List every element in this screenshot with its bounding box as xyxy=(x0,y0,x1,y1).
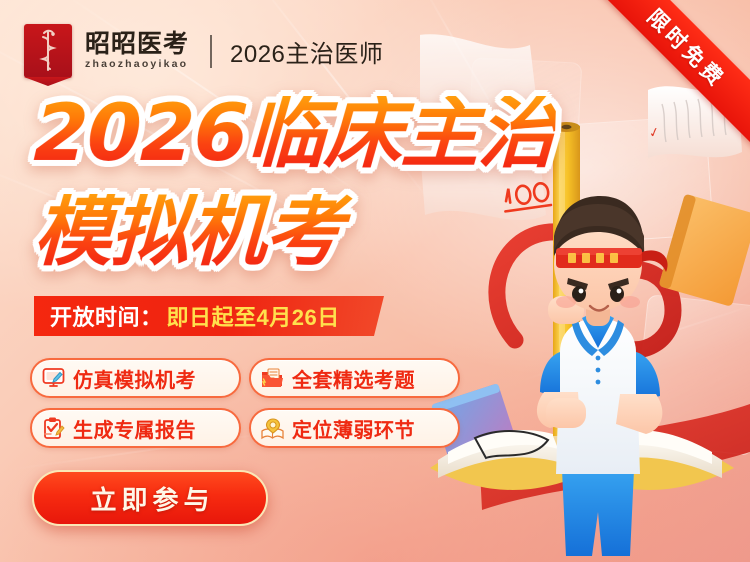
logo-name-pinyin: zhaozhaoyikao xyxy=(85,59,189,70)
open-time-bar: 开放时间： 即日起至4月26日 xyxy=(34,296,384,336)
feature-pill-list: 仿真模拟机考 全套精选考题 xyxy=(30,358,460,448)
folder-documents-icon xyxy=(260,366,285,391)
promo-banner: ✓ xyxy=(0,0,750,562)
feature-label: 全套精选考题 xyxy=(292,364,415,393)
logo-name-cn: 昭昭医考 xyxy=(85,32,189,57)
headline-line-1: 2026临床主治 xyxy=(33,96,557,172)
feature-label: 仿真模拟机考 xyxy=(73,364,196,393)
feature-pill-question-bank[interactable]: 全套精选考题 xyxy=(249,358,460,398)
open-time-label: 开放时间： xyxy=(50,300,163,332)
header-divider xyxy=(210,35,212,68)
clipboard-check-icon xyxy=(41,416,66,441)
magnifier-book-icon xyxy=(260,416,285,441)
feature-pill-simulation[interactable]: 仿真模拟机考 xyxy=(30,358,241,398)
feature-label: 生成专属报告 xyxy=(73,414,196,443)
feature-pill-report[interactable]: 生成专属报告 xyxy=(30,408,241,448)
limited-time-ribbon: 限时免费 xyxy=(582,0,750,168)
join-now-button[interactable]: 立即参与 xyxy=(32,470,268,526)
feature-pill-weak-points[interactable]: 定位薄弱环节 xyxy=(249,408,460,448)
join-now-label: 立即参与 xyxy=(85,480,214,517)
feature-label: 定位薄弱环节 xyxy=(292,414,415,443)
logo-wordmark: 昭昭医考 zhaozhaoyikao xyxy=(85,32,189,70)
header-subtitle: 2026主治医师 xyxy=(230,34,383,69)
student-character xyxy=(537,196,668,556)
caduceus-shield-icon xyxy=(24,24,72,78)
header: 昭昭医考 zhaozhaoyikao 2026主治医师 xyxy=(24,24,383,78)
headline: 2026临床主治 模拟机考 xyxy=(34,96,555,271)
open-time-value: 即日起至4月26日 xyxy=(167,300,340,332)
monitor-pen-icon xyxy=(41,366,66,391)
headline-line-2: 模拟机考 xyxy=(33,194,557,270)
ribbon-label: 限时免费 xyxy=(641,2,733,94)
